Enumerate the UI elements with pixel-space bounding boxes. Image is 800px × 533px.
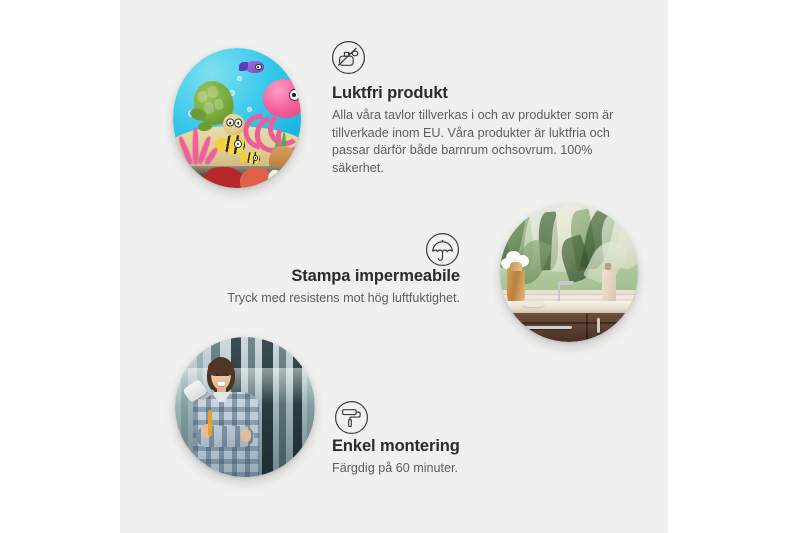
cabinet-handle <box>597 318 600 333</box>
octopus-eye <box>289 89 300 101</box>
woman-illustration <box>183 357 275 477</box>
feature-text-enkel-montering: Enkel montering Färgdig på 60 minuter. <box>332 436 632 478</box>
yellow-striped-fish-illustration <box>222 135 245 155</box>
drawer-handle <box>525 326 572 329</box>
woman-hand <box>241 429 251 442</box>
paint-roller-icon <box>333 399 370 436</box>
soap-dispenser <box>602 269 616 305</box>
content-panel: Luktfri produkt Alla våra tavlor tillver… <box>120 0 668 533</box>
woman-with-paint-roller-photo[interactable] <box>175 337 315 477</box>
woman-roller-inner <box>175 337 315 477</box>
underwater-kids-scene-photo[interactable] <box>173 48 301 188</box>
umbrella-icon <box>424 231 461 268</box>
underwater-scene-inner <box>173 48 301 188</box>
purple-fish-illustration <box>245 61 264 74</box>
small-yellow-fish-illustration <box>245 152 260 165</box>
feature-body: Alla våra tavlor tillverkas i och av pro… <box>332 107 632 179</box>
pink-coral-illustration <box>176 126 217 168</box>
bathroom-scene-inner <box>500 204 638 342</box>
feature-title: Enkel montering <box>332 436 632 457</box>
feature-text-luktfri-produkt: Luktfri produkt Alla våra tavlor tillver… <box>332 83 632 178</box>
feature-body: Tryck med resistens mot hög luftfuktighe… <box>160 290 460 308</box>
roller-grip <box>208 410 212 436</box>
woman-fringe <box>208 359 234 376</box>
cabinet-handle <box>627 318 630 333</box>
marble-countertop <box>500 301 638 313</box>
no-odor-perfume-bottle-icon <box>330 39 367 76</box>
feature-body: Färgdig på 60 minuter. <box>332 460 632 478</box>
screenshot-stage: Luktfri produkt Alla våra tavlor tillver… <box>0 0 800 533</box>
feature-title: Stampa impermeabile <box>160 266 460 287</box>
feature-text-stampa-impermeabile: Stampa impermeabile Tryck med resistens … <box>160 266 460 308</box>
wooden-vanity-cabinet <box>508 313 638 342</box>
octopus-illustration <box>247 79 301 149</box>
foreground-strip <box>173 166 301 188</box>
bathroom-leaf-wallpaper-photo[interactable] <box>500 204 638 342</box>
feature-title: Luktfri produkt <box>332 83 632 104</box>
